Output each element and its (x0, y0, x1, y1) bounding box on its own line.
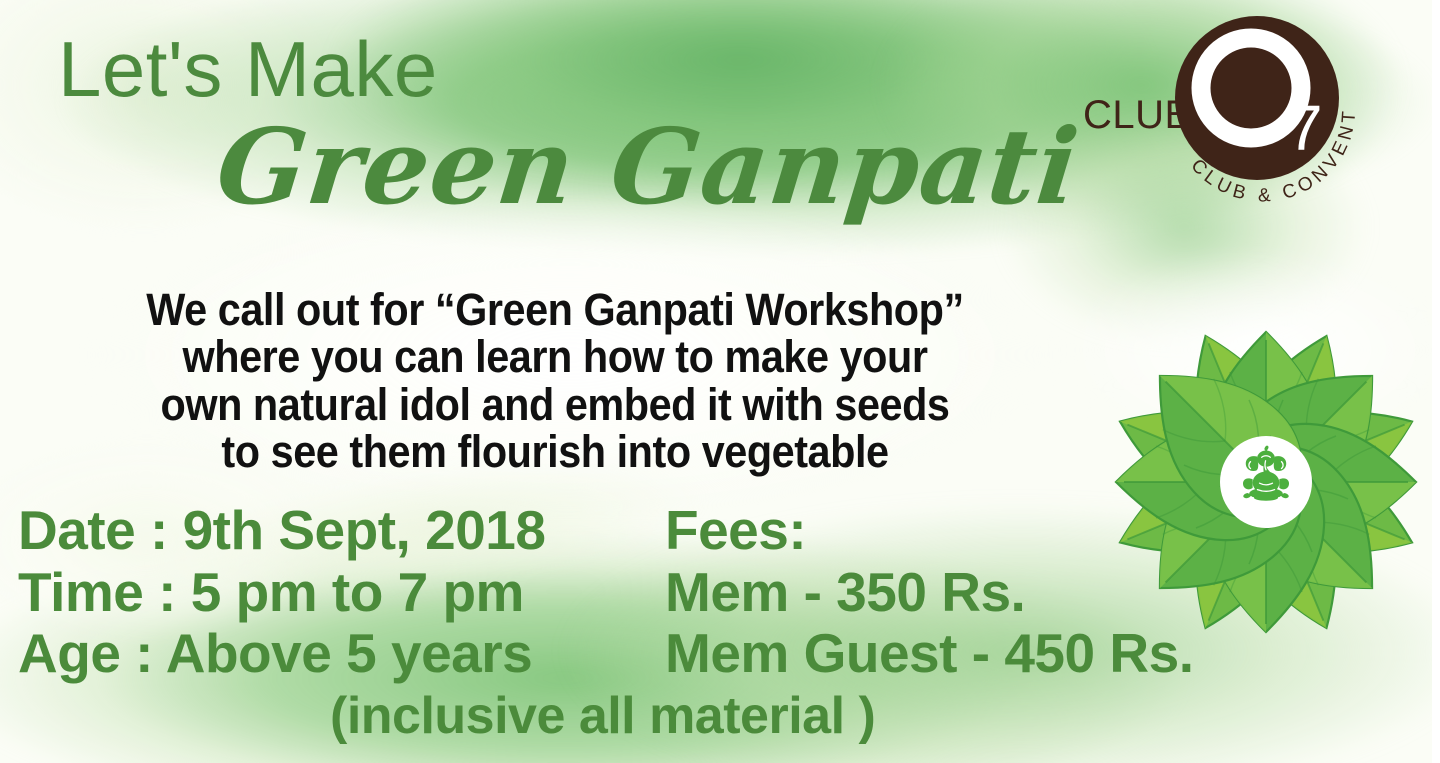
detail-age: Age : Above 5 years (18, 623, 545, 685)
poster-canvas: Let's Make Green Ganpati We call out for… (0, 0, 1440, 763)
right-edge-strip (1432, 0, 1440, 763)
headline-green-ganpati: Green Ganpati (212, 112, 1084, 221)
detail-date: Date : 9th Sept, 2018 (18, 500, 545, 562)
headline-lets-make: Let's Make (58, 30, 438, 108)
logo-seven-numeral: 7 (1287, 92, 1323, 164)
club-o7-logo: CLUB 7 CLUB & CONVENTION (1075, 10, 1375, 225)
detail-inclusive-note: (inclusive all material ) (330, 686, 875, 746)
body-line-2: where you can learn how to make your (136, 333, 973, 380)
details-left-column: Date : 9th Sept, 2018 Time : 5 pm to 7 p… (18, 500, 545, 685)
body-line-3: own natural idol and embed it with seeds (136, 381, 973, 428)
body-line-1: We call out for “Green Ganpati Workshop” (136, 286, 973, 333)
body-line-4: to see them flourish into vegetable (136, 428, 973, 475)
detail-time: Time : 5 pm to 7 pm (18, 562, 545, 624)
body-paragraph: We call out for “Green Ganpati Workshop”… (136, 286, 973, 475)
leaf-mandala-ganesha-icon (1092, 300, 1440, 658)
